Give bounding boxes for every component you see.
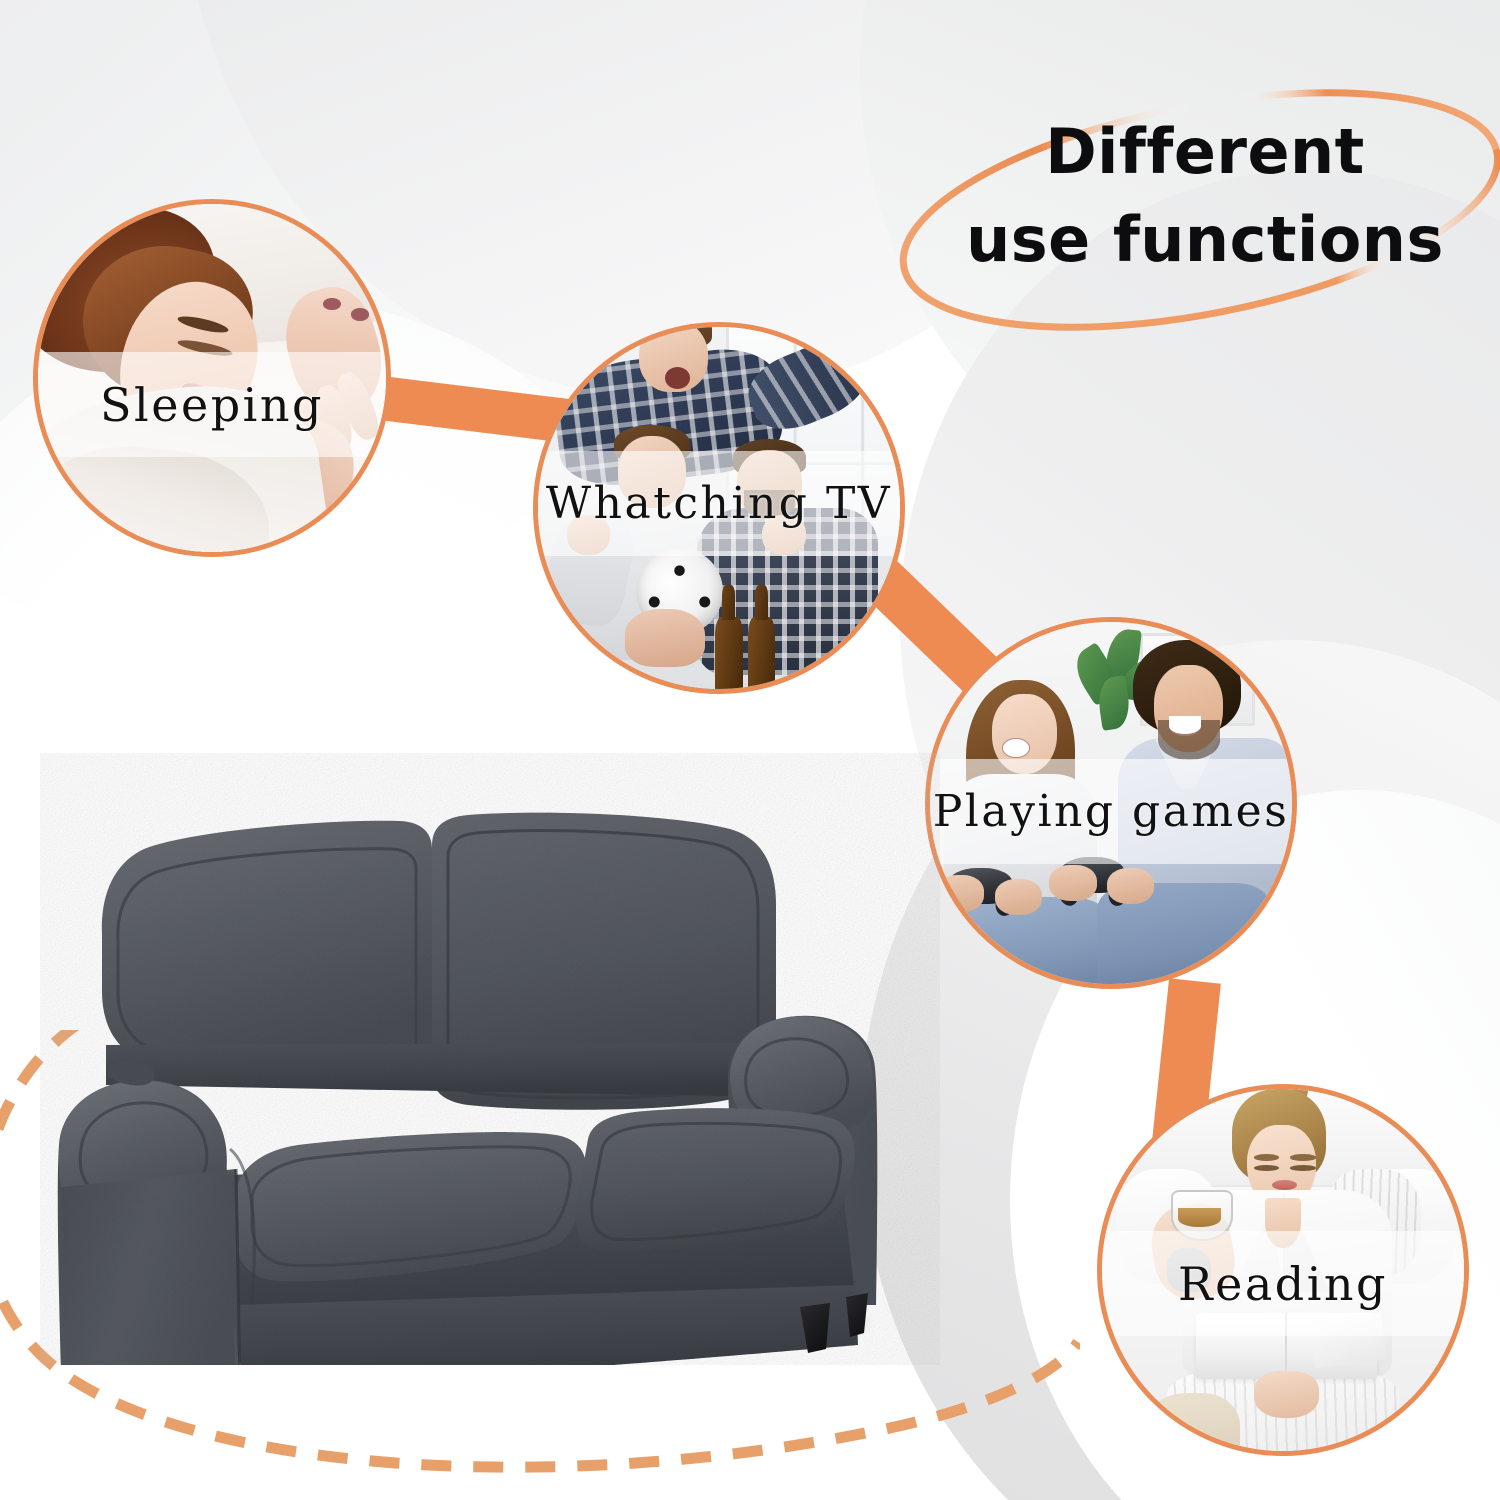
page-title: Different use functions [935,108,1475,284]
bubble-caption-band-sleeping: Sleeping [33,352,391,457]
bubble-label-watching-tv: Whatching TV [546,478,892,529]
use-case-bubble-watching-tv[interactable]: Whatching TV [533,322,905,694]
loveseat-sofa-product-image [40,745,940,1365]
title-line-1: Different [935,108,1475,196]
use-case-bubble-playing-games[interactable]: Playing games [925,617,1297,989]
bubble-caption-band-reading: Reading [1097,1231,1469,1336]
bubble-label-reading: Reading [1178,1257,1388,1311]
use-case-bubble-reading[interactable]: Reading [1097,1084,1469,1456]
use-case-bubble-sleeping[interactable]: Sleeping [33,199,391,557]
bubble-caption-band-playing-games: Playing games [925,759,1297,864]
bubble-label-playing-games: Playing games [933,786,1290,837]
bubble-caption-band-watching-tv: Whatching TV [533,451,905,556]
bubble-label-sleeping: Sleeping [100,378,324,432]
title-line-2: use functions [935,196,1475,284]
infographic-poster: Sleeping Whatchin [0,0,1500,1500]
